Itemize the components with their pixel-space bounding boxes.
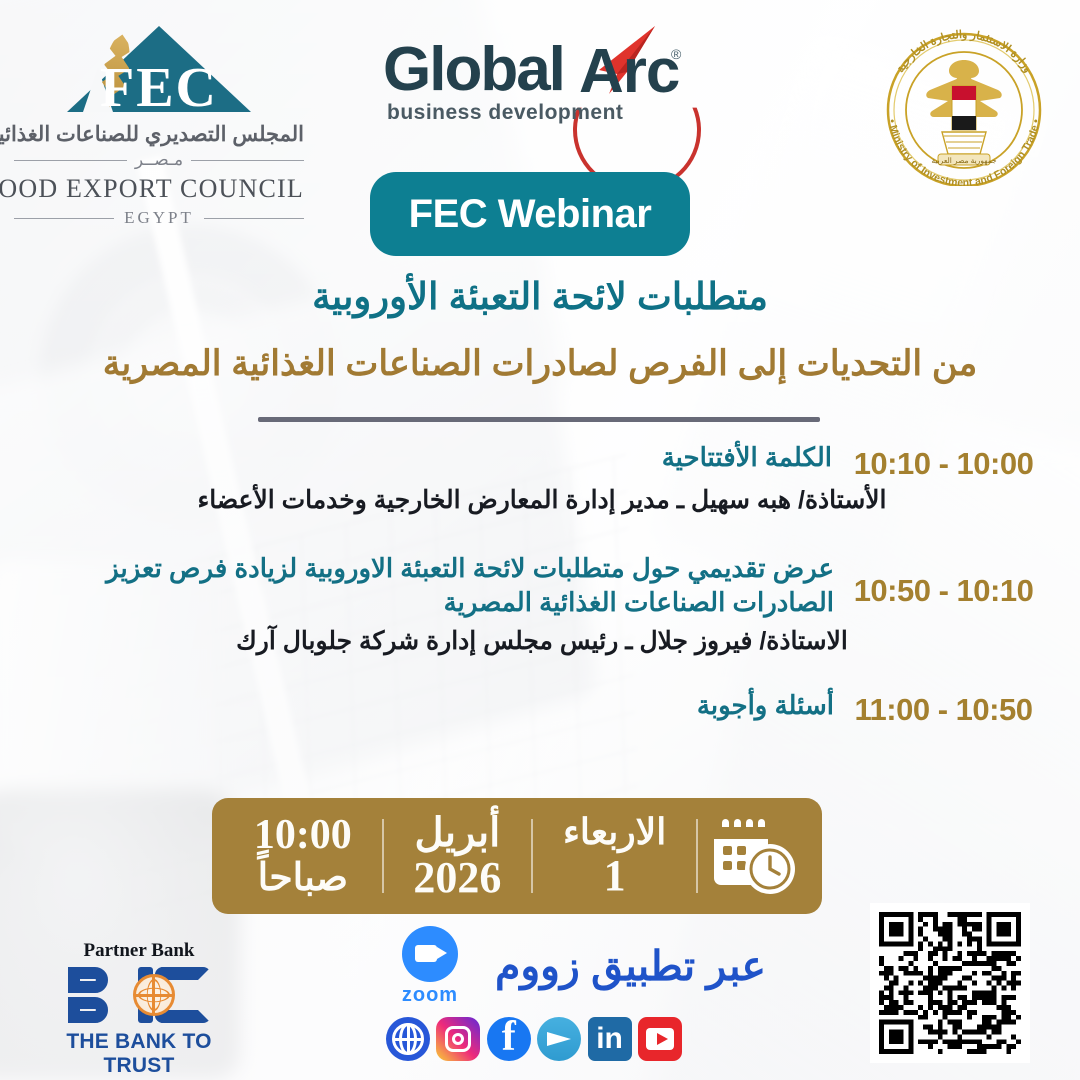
agenda-item-2-heading-line-2: الصادرات الصناعات الغذائية المصرية <box>22 585 834 619</box>
registered-mark: ® <box>671 46 681 62</box>
fec-arabic-name: المجلس التصديري للصناعات الغذائية <box>14 122 304 147</box>
facebook-icon <box>487 1017 531 1061</box>
agenda-item-3: 11:00 - 10:50 أسئلة وأجوبة <box>22 688 1062 722</box>
date-bar-month: أبريل 2026 <box>390 811 526 902</box>
global-arc-logo: Global Arc ® business development <box>383 28 693 138</box>
agenda-item-1-speaker: الأستاذة/ هبه سهيل ـ مدير إدارة المعارض … <box>22 484 1062 517</box>
fec-arabic-country: مـصــر <box>135 150 183 170</box>
fec-english-country: EGYPT <box>124 208 194 228</box>
fec-webinar-badge: FEC Webinar <box>370 172 690 256</box>
qr-code-icon <box>879 912 1021 1054</box>
page-title: متطلبات لائحة التعبئة الأوروبية <box>60 276 1020 319</box>
ministry-logo: وزارة الاستثمار والتجارة الخارجية • Mini… <box>866 14 1062 186</box>
global-arc-word-1: Global <box>383 34 564 105</box>
global-arc-word-2: Arc <box>579 36 679 107</box>
date-bar-month-name: أبريل <box>390 811 526 854</box>
partner-bank-label: Partner Bank <box>28 940 250 962</box>
agenda-item-2-time: 10:50 - 10:10 <box>841 573 1046 609</box>
global-arc-tagline: business development <box>387 101 623 125</box>
eagle-emblem-icon: وزارة الاستثمار والتجارة الخارجية • Mini… <box>866 14 1062 186</box>
title-divider <box>258 417 820 422</box>
agenda-item-2: 10:50 - 10:10 عرض تقديمي حول متطلبات لائ… <box>22 551 1062 658</box>
date-bar-separator <box>382 819 384 893</box>
date-bar-weekday: الاربعاء <box>539 813 690 852</box>
agenda-item-3-heading: أسئلة وأجوبة <box>22 688 834 722</box>
fec-english-name: FOOD EXPORT COUNCIL <box>14 174 304 204</box>
page-subtitle: من التحديات إلى الفرص لصادرات الصناعات ا… <box>30 343 1050 385</box>
badge-label: FEC Webinar <box>409 192 652 237</box>
partner-bank-logo: Partner Bank THE BANK TO TRUST <box>28 940 250 1078</box>
zoom-wordmark: zoom <box>383 984 477 1007</box>
divider-line <box>14 218 114 219</box>
agenda-list: 10:10 - 10:00 الكلمة الأفتتاحية الأستاذة… <box>22 440 1062 722</box>
platform-label: عبر تطبيق زووم <box>495 942 766 990</box>
pyramid-wheat-icon: FEC <box>14 26 304 112</box>
youtube-icon <box>638 1017 682 1061</box>
divider-line <box>191 160 304 161</box>
date-bar-day: الاربعاء 1 <box>539 813 690 899</box>
social-links: in <box>386 1014 682 1064</box>
fec-logo: FEC المجلس التصديري للصناعات الغذائية مـ… <box>14 26 304 228</box>
agenda-item-3-time: 11:00 - 10:50 <box>841 692 1046 728</box>
fec-acronym: FEC <box>14 60 304 116</box>
social-link-youtube[interactable] <box>638 1017 682 1061</box>
agenda-item-2-heading-line-1: عرض تقديمي حول متطلبات لائحة التعبئة الا… <box>22 551 834 585</box>
partner-bank-tagline: THE BANK TO TRUST <box>28 1030 250 1078</box>
date-bar-separator <box>531 819 533 893</box>
agenda-item-1-heading: الكلمة الأفتتاحية <box>22 440 834 474</box>
date-bar-day-number: 1 <box>539 852 690 900</box>
social-link-telegram[interactable] <box>537 1017 581 1061</box>
agenda-item-3-body: أسئلة وأجوبة <box>22 688 834 722</box>
calendar-clock-icon <box>710 813 796 899</box>
cib-globe-icon <box>133 974 175 1016</box>
agenda-item-1-body: الكلمة الأفتتاحية <box>22 440 834 474</box>
date-bar-clock-time: 10:00 <box>230 813 376 858</box>
cib-b-letter <box>68 967 108 1023</box>
fec-country-english-row: EGYPT <box>14 208 304 228</box>
date-time-bar: الاربعاء 1 أبريل 2026 10:00 صباحاً <box>212 798 822 914</box>
fec-country-arabic-row: مـصــر <box>14 150 304 170</box>
video-camera-icon <box>415 945 437 962</box>
agenda-item-2-speaker: الاستاذة/ فيروز جلال ـ رئيس مجلس إدارة ش… <box>22 625 1062 658</box>
svg-text:جمهورية مصر العربية: جمهورية مصر العربية <box>931 156 997 165</box>
agenda-item-2-body: عرض تقديمي حول متطلبات لائحة التعبئة الا… <box>22 551 834 620</box>
date-bar-year: 2026 <box>390 854 526 902</box>
divider-line <box>204 218 304 219</box>
zoom-video-icon <box>402 926 458 982</box>
divider-line <box>14 160 127 161</box>
date-bar-time: 10:00 صباحاً <box>230 813 376 899</box>
instagram-icon <box>436 1017 480 1061</box>
social-link-linkedin[interactable]: in <box>588 1017 632 1061</box>
zoom-logo[interactable]: zoom <box>383 926 477 1007</box>
cib-brand-mark <box>28 967 250 1023</box>
telegram-icon <box>537 1017 581 1061</box>
date-bar-separator <box>696 819 698 893</box>
social-link-website[interactable] <box>386 1017 430 1061</box>
linkedin-icon: in <box>588 1017 632 1061</box>
globe-icon <box>386 1017 430 1061</box>
qr-code[interactable] <box>870 903 1030 1063</box>
social-link-instagram[interactable] <box>436 1017 480 1061</box>
webinar-poster: FEC المجلس التصديري للصناعات الغذائية مـ… <box>0 0 1080 1080</box>
date-bar-meridiem: صباحاً <box>230 858 376 899</box>
platform-row: عبر تطبيق زووم zoom <box>346 930 766 1002</box>
agenda-item-1: 10:10 - 10:00 الكلمة الأفتتاحية الأستاذة… <box>22 440 1062 517</box>
social-link-facebook[interactable] <box>487 1017 531 1061</box>
agenda-item-1-time: 10:10 - 10:00 <box>841 446 1046 482</box>
